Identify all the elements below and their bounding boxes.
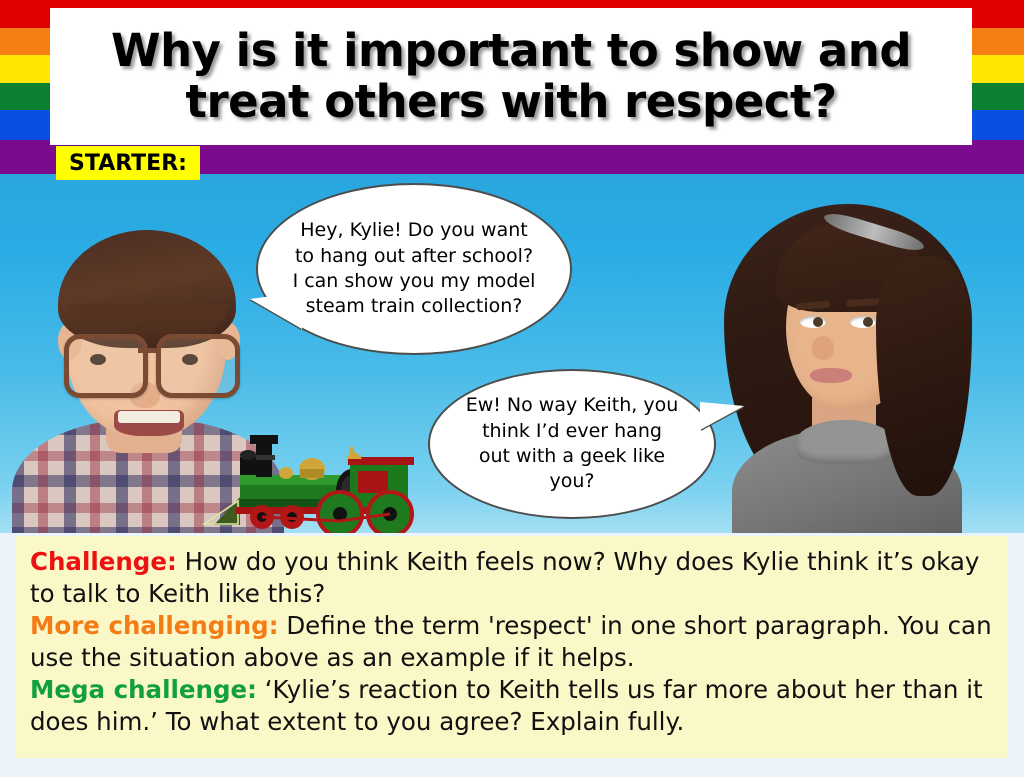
- keith-lens-right: [156, 334, 240, 398]
- task-panel-inner: Challenge: How do you think Keith feels …: [16, 536, 1008, 758]
- kylie-eye-right: [850, 316, 876, 328]
- speech-tail-keith: [250, 292, 302, 329]
- title-line-1: Why is it important to show and: [111, 24, 911, 77]
- starter-badge-label: STARTER:: [69, 151, 187, 176]
- speech-tail-kylie: [700, 402, 744, 430]
- speech-bubble-kylie: Ew! No way Keith, you think I’d ever han…: [428, 369, 716, 519]
- title-line-2: treat others with respect?: [185, 75, 836, 128]
- task-panel: Challenge: How do you think Keith feels …: [0, 533, 1024, 777]
- keith-teeth: [118, 411, 180, 423]
- task-item-mega-challenge: Mega challenge: ‘Kylie’s reaction to Kei…: [30, 674, 994, 738]
- glasses-icon: [62, 334, 234, 390]
- keith-hair: [58, 230, 236, 348]
- keith-lens-left: [64, 334, 148, 398]
- task-tag-more-challenging: More challenging:: [30, 611, 279, 640]
- task-item-challenge: Challenge: How do you think Keith feels …: [30, 546, 994, 610]
- title-card: Why is it important to show and treat ot…: [50, 8, 972, 145]
- kylie-lips: [810, 368, 852, 383]
- slide-canvas: Why is it important to show and treat ot…: [0, 0, 1024, 777]
- kylie-eye-left: [800, 316, 826, 328]
- speech-bubble-keith-text: Hey, Kylie! Do you want to hang out afte…: [258, 218, 570, 320]
- keith-glasses-bridge: [138, 348, 158, 353]
- task-item-more-challenging: More challenging: Define the term 'respe…: [30, 610, 994, 674]
- starter-badge: STARTER:: [56, 146, 200, 180]
- speech-bubble-keith: Hey, Kylie! Do you want to hang out afte…: [256, 183, 572, 355]
- task-tag-challenge: Challenge:: [30, 547, 177, 576]
- steam-train-icon: [200, 425, 415, 533]
- kylie-turtleneck-collar: [796, 420, 894, 464]
- speech-bubble-kylie-text: Ew! No way Keith, you think I’d ever han…: [430, 393, 714, 495]
- keith-mouth: [114, 410, 184, 436]
- page-title: Why is it important to show and treat ot…: [101, 26, 921, 127]
- character-kylie: [670, 186, 1020, 533]
- task-tag-mega-challenge: Mega challenge:: [30, 675, 257, 704]
- kylie-nose: [812, 336, 834, 360]
